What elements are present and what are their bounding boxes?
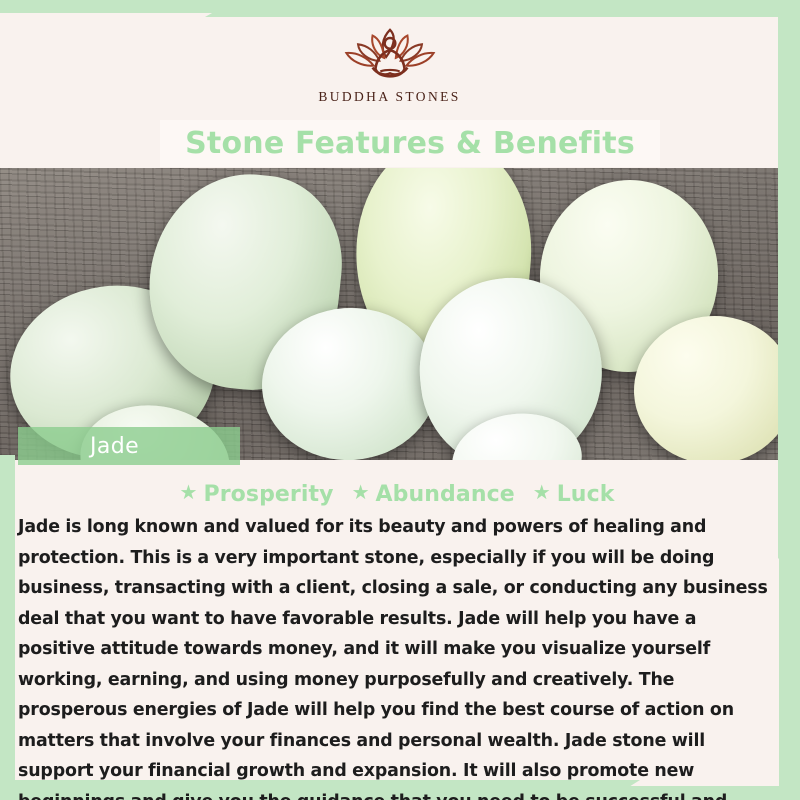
poster-root: BUDDHA STONES Stone Features & Benefits …: [0, 0, 800, 800]
title-ribbon: Stone Features & Benefits: [160, 120, 660, 167]
star-icon: ★: [533, 483, 551, 503]
lotus-meditation-icon: [331, 23, 449, 85]
description-text: Jade is long known and valued for its be…: [18, 512, 776, 800]
stone-name-label: Jade: [90, 434, 139, 459]
benefit-item: ★ Abundance: [352, 482, 515, 507]
benefit-label: Prosperity: [203, 482, 333, 507]
hero-photo: [0, 168, 779, 460]
benefit-label: Luck: [557, 482, 615, 507]
benefit-item: ★ Prosperity: [180, 482, 334, 507]
benefits-row: ★ Prosperity ★ Abundance ★ Luck: [15, 478, 779, 510]
decorative-rail-left: [0, 455, 15, 800]
page-title: Stone Features & Benefits: [185, 126, 635, 161]
description-block: Jade is long known and valued for its be…: [15, 512, 779, 800]
brand-name: BUDDHA STONES: [318, 89, 460, 105]
stone-caption-bar: Jade: [18, 427, 240, 465]
decorative-rail-right: [778, 0, 800, 580]
star-icon: ★: [352, 483, 370, 503]
star-icon: ★: [180, 483, 198, 503]
benefit-label: Abundance: [376, 482, 515, 507]
brand-header: BUDDHA STONES: [0, 13, 779, 119]
benefit-item: ★ Luck: [533, 482, 615, 507]
